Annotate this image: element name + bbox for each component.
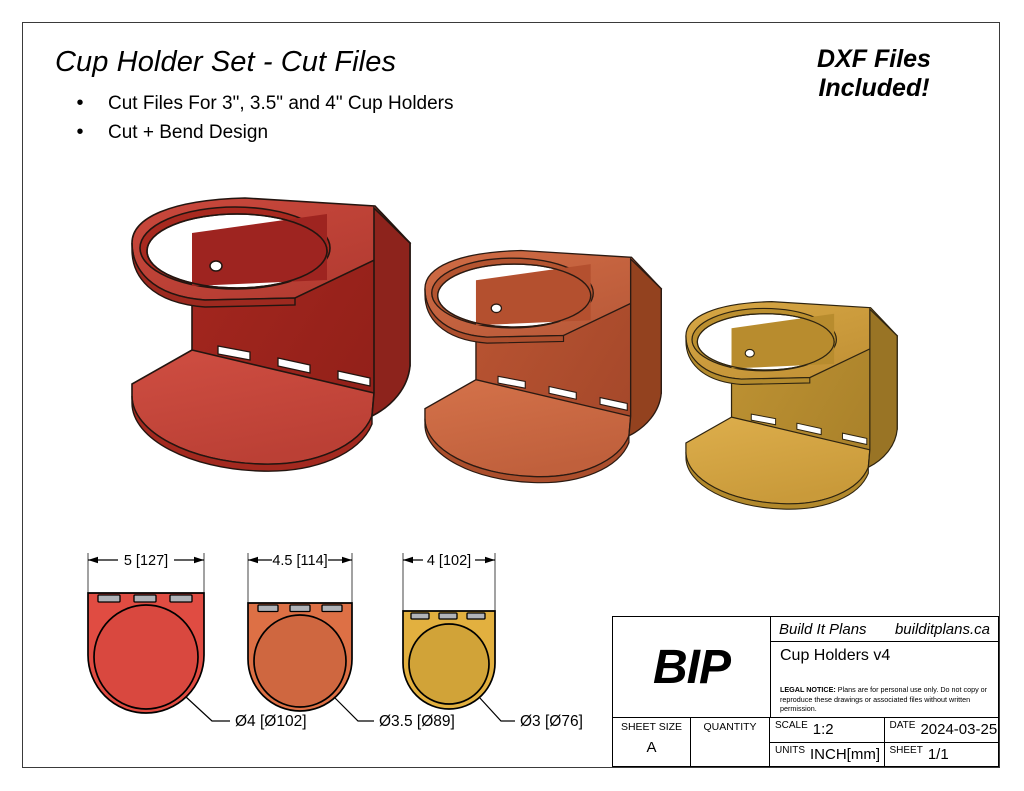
model-mounting-hole-upper [491,304,501,313]
title-block: BIP Build It Plans builditplans.ca Cup H… [612,616,999,767]
sheet-size-value: A [646,739,656,756]
model-side-wall [629,259,661,436]
legal-notice: LEGAL NOTICE: Plans are for personal use… [780,685,989,714]
flat-bend-slot-2 [439,613,457,619]
company-logo: BIP [613,617,771,717]
flat-bend-slot-2 [290,605,310,612]
dim-arrow-right [485,557,495,563]
diameter-leader-line [479,697,515,721]
list-item: • Cut Files For 3", 3.5" and 4" Cup Hold… [52,92,612,121]
dim-arrow-right [194,557,204,563]
model-side-wall [868,309,897,467]
dim-arrow-left [88,557,98,563]
dim-arrow-left [248,557,258,563]
company-name: Build It Plans [779,621,867,638]
model-mounting-hole-upper [210,261,222,271]
scale-value: 1:2 [813,721,834,738]
title-block-lower: SHEET SIZE A QUANTITY SCALE 1:2 DATE 202… [613,718,998,766]
flat-width-dimension: 5 [127] [124,553,168,569]
bullet-icon: • [52,121,108,143]
isometric-view-cup-holder-3-5in [398,242,678,497]
sheet-size-label: SHEET SIZE [621,721,682,733]
quantity-cell: QUANTITY [691,718,770,766]
flat-bend-slot-3 [170,595,192,602]
feature-bullet-list: • Cut Files For 3", 3.5" and 4" Cup Hold… [52,92,612,150]
dim-arrow-right [342,557,352,563]
page-title: Cup Holder Set - Cut Files [55,46,396,79]
dxf-note-line1: DXF Files [754,45,994,74]
list-item: • Cut + Bend Design [52,121,612,150]
sheet-number-cell: SHEET 1/1 [884,743,999,767]
part-name: Cup Holders v4 [780,647,989,665]
bullet-icon: • [52,92,108,114]
date-value: 2024-03-25 [920,721,997,738]
brand-row: Build It Plans builditplans.ca [771,617,998,642]
units-sheet-row: UNITS INCH[mm] SHEET 1/1 [770,743,998,767]
isometric-view-cup-holder-4in [110,188,420,488]
model-mounting-hole-upper [745,349,754,357]
flat-width-dimension: 4.5 [114] [272,553,327,569]
flat-width-dimension: 4 [102] [427,553,471,569]
flat-bend-slot-1 [98,595,120,602]
sheet-value: 1/1 [928,746,949,763]
title-block-fields: SCALE 1:2 DATE 2024-03-25 UNITS INCH[mm]… [770,718,998,766]
flat-bend-slot-1 [411,613,429,619]
sheet-label: SHEET [890,745,923,756]
flat-bend-slot-2 [134,595,156,602]
flat-bend-slot-1 [258,605,278,612]
diameter-leader-line [334,697,374,721]
title-block-upper: BIP Build It Plans builditplans.ca Cup H… [613,617,998,718]
flat-cup-circle [254,615,346,707]
units-label: UNITS [775,745,805,756]
bullet-text: Cut Files For 3", 3.5" and 4" Cup Holder… [108,92,454,116]
logo-text: BIP [653,640,730,695]
isometric-view-cup-holder-3in [662,294,912,522]
date-label: DATE [890,720,916,731]
company-website[interactable]: builditplans.ca [895,621,990,638]
scale-label: SCALE [775,720,808,731]
bullet-text: Cut + Bend Design [108,121,268,145]
dxf-note-line2: Included! [754,74,994,103]
title-block-info: Build It Plans builditplans.ca Cup Holde… [771,617,998,717]
date-cell: DATE 2024-03-25 [884,718,999,742]
dim-arrow-left [403,557,413,563]
drawing-sheet: Cup Holder Set - Cut Files DXF Files Inc… [0,0,1024,791]
flat-pattern-view-3in: 4 [102] Ø3 [Ø76] [385,545,635,755]
units-value: INCH[mm] [810,746,880,763]
sheet-size-cell: SHEET SIZE A [613,718,691,766]
flat-cup-circle [94,605,198,709]
dxf-included-note: DXF Files Included! [754,45,994,103]
quantity-label: QUANTITY [703,721,756,733]
legal-notice-prefix: LEGAL NOTICE: [780,685,836,694]
part-info: Cup Holders v4 LEGAL NOTICE: Plans are f… [771,642,998,717]
flat-cup-circle [409,624,489,704]
flat-bend-slot-3 [322,605,342,612]
scale-cell: SCALE 1:2 [770,718,884,742]
scale-date-row: SCALE 1:2 DATE 2024-03-25 [770,718,998,743]
units-cell: UNITS INCH[mm] [770,743,884,767]
flat-bend-slot-3 [467,613,485,619]
diameter-leader-line [186,697,230,721]
diameter-callout: Ø3 [Ø76] [520,713,583,730]
